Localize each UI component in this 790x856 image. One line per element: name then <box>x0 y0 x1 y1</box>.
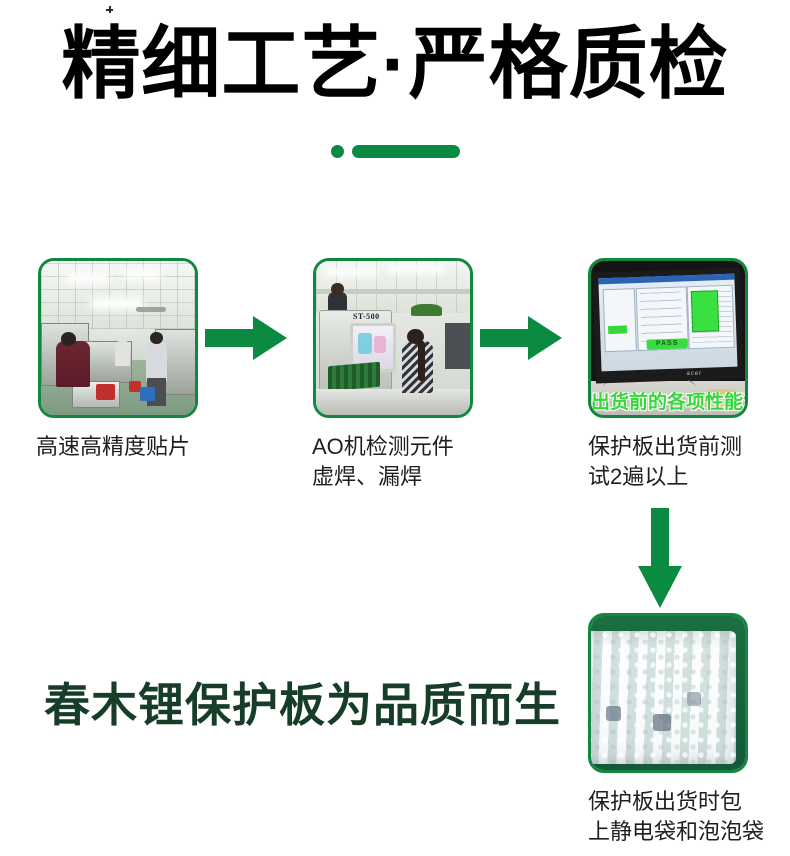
pack-product-shadow <box>687 692 701 705</box>
step-photo-aoi: ST-500 <box>313 258 473 418</box>
aoi-operator-hair <box>418 341 426 381</box>
test-software-green-panel <box>691 291 719 333</box>
test-software-green-button <box>608 326 627 335</box>
smt-ceiling <box>41 261 195 329</box>
arrow-down-icon <box>638 508 682 608</box>
divider-dot-icon <box>331 145 344 158</box>
test-monitor-brand: acer <box>686 371 702 377</box>
brand-tagline: 春木锂保护板为品质而生 <box>44 676 561 734</box>
step-photo-test: PASS acer 出货前的各项性能测 <box>588 258 748 418</box>
test-monitor-screen: PASS <box>598 273 737 371</box>
step-photo-smt <box>38 258 198 418</box>
smt-worker <box>146 341 168 381</box>
smt-lamp <box>69 276 106 280</box>
smt-stool <box>96 384 114 399</box>
aoi-bench <box>316 389 470 415</box>
pack-bubble-texture <box>591 631 736 763</box>
smt-lamp <box>127 272 158 276</box>
arrow-right-icon <box>205 316 287 360</box>
step-caption-aoi: AO机检测元件 虚焊、漏焊 <box>312 432 454 492</box>
aoi-background-equipment <box>445 323 470 369</box>
smt-worker <box>56 341 90 387</box>
test-status-badge: PASS <box>647 338 688 350</box>
pack-bubble-bundle <box>591 631 736 763</box>
aoi-background-worker-head <box>331 283 343 295</box>
smt-worker-head <box>61 332 76 346</box>
aoi-screen-graphic <box>374 336 386 353</box>
page-title: 精细工艺·严格质检 <box>0 16 790 112</box>
test-software-panel <box>603 288 637 353</box>
aoi-machine-label: ST-500 <box>353 312 380 321</box>
pack-photo-content <box>591 616 745 770</box>
pack-product-shadow <box>653 714 671 731</box>
arrow-right-icon <box>480 316 562 360</box>
test-software-rows <box>640 292 682 342</box>
test-photo-overlay-caption: 出货前的各项性能测 <box>591 392 745 414</box>
smt-worker <box>115 341 130 366</box>
pack-product-shadow <box>606 706 621 722</box>
aoi-pcb-stack <box>328 362 380 391</box>
divider-bar-icon <box>352 145 460 158</box>
test-monitor: PASS <box>592 268 744 384</box>
smt-bin <box>140 387 155 401</box>
aoi-screen-graphic <box>358 333 372 354</box>
step-caption-smt: 高速高精度贴片 <box>36 432 190 462</box>
aoi-photo-content: ST-500 <box>316 261 470 415</box>
test-photo-content: PASS acer 出货前的各项性能测 <box>591 261 745 415</box>
aoi-plant <box>411 304 442 316</box>
smt-lamp <box>93 301 139 306</box>
registration-mark-icon <box>106 6 113 13</box>
step-photo-pack <box>588 613 748 773</box>
step-caption-pack: 保护板出货时包 上静电袋和泡泡袋 <box>588 787 764 847</box>
aoi-light-tube <box>328 270 374 274</box>
smt-worker-head <box>150 332 162 344</box>
aoi-light-tube <box>390 267 442 271</box>
poster-root: 精细工艺·严格质检 <box>0 0 790 856</box>
smt-photo-content <box>41 261 195 415</box>
section-divider <box>0 145 790 158</box>
step-caption-test: 保护板出货前测 试2遍以上 <box>588 432 742 492</box>
test-software-titlebar <box>598 273 734 284</box>
smt-ceiling-fan <box>136 307 166 312</box>
